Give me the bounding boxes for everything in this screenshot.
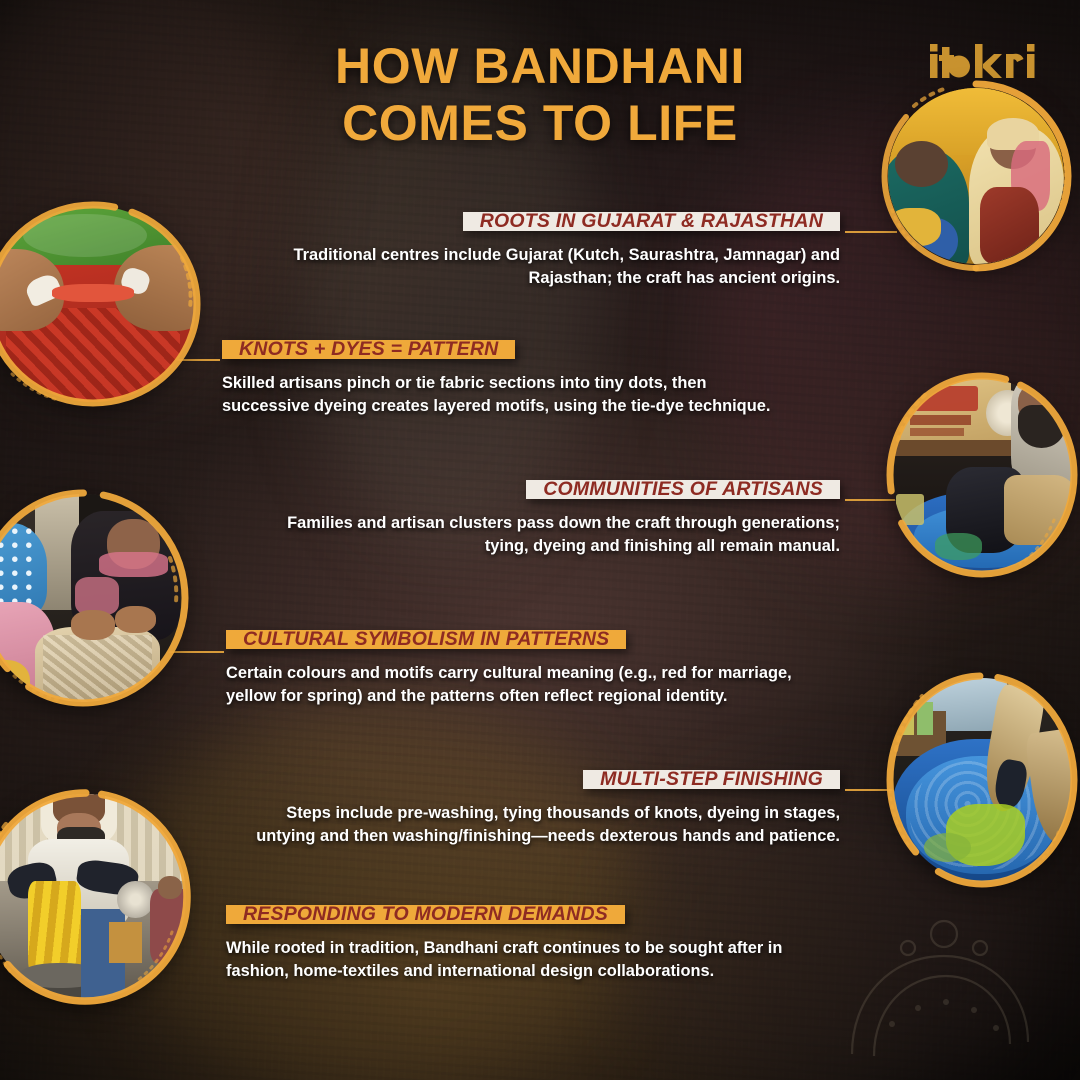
photo-women-tying-cream-fabric[interactable] bbox=[0, 486, 192, 710]
photo-artisan-lifting-yellow-cloth[interactable] bbox=[0, 786, 194, 1008]
section-heading-communities: COMMUNITIES OF ARTISANS bbox=[526, 480, 840, 499]
itokri-logo[interactable] bbox=[928, 40, 1046, 82]
section-body-finishing: Steps include pre-washing, tying thousan… bbox=[255, 802, 840, 847]
photo-frame-arc-women-tying-yellow-room bbox=[878, 78, 1074, 274]
bandhani-dot-motif bbox=[822, 904, 1062, 1074]
section-symbolism: CULTURAL SYMBOLISM IN PATTERNS Certain c… bbox=[226, 630, 796, 707]
section-body-knots-dyes: Skilled artisans pinch or tie fabric sec… bbox=[222, 372, 792, 417]
photo-frame-arc-hands-tying-red-fabric bbox=[0, 198, 204, 410]
section-body-symbolism: Certain colours and motifs carry cultura… bbox=[226, 662, 796, 707]
section-roots: ROOTS IN GUJARAT & RAJASTHAN Traditional… bbox=[255, 212, 840, 289]
infographic-canvas: HOW BANDHANI COMES TO LIFE bbox=[0, 0, 1080, 1080]
section-heading-roots: ROOTS IN GUJARAT & RAJASTHAN bbox=[463, 212, 840, 231]
photo-frame-arc-artisan-lifting-yellow-cloth bbox=[0, 786, 194, 1008]
photo-women-tying-yellow-room[interactable] bbox=[878, 78, 1074, 274]
section-body-communities: Families and artisan clusters pass down … bbox=[250, 512, 840, 557]
photo-frame-arc-women-tying-cream-fabric bbox=[0, 486, 192, 710]
section-modern-demands: RESPONDING TO MODERN DEMANDS While roote… bbox=[226, 905, 806, 982]
section-finishing: MULTI-STEP FINISHING Steps include pre-w… bbox=[255, 770, 840, 847]
photo-dyer-blue-vat-gloves[interactable] bbox=[884, 370, 1080, 580]
photo-hands-tying-red-fabric[interactable] bbox=[0, 198, 204, 410]
section-heading-symbolism: CULTURAL SYMBOLISM IN PATTERNS bbox=[226, 630, 626, 649]
section-body-roots: Traditional centres include Gujarat (Kut… bbox=[255, 244, 840, 289]
photo-frame-arc-dyer-blue-vat-gloves bbox=[884, 370, 1080, 580]
photo-frame-arc-blue-dye-vat-bundles bbox=[884, 670, 1080, 890]
section-heading-knots-dyes: KNOTS + DYES = PATTERN bbox=[222, 340, 515, 359]
section-knots-dyes: KNOTS + DYES = PATTERN Skilled artisans … bbox=[222, 340, 792, 417]
section-heading-finishing: MULTI-STEP FINISHING bbox=[583, 770, 840, 789]
section-heading-modern-demands: RESPONDING TO MODERN DEMANDS bbox=[226, 905, 625, 924]
section-communities: COMMUNITIES OF ARTISANS Families and art… bbox=[250, 480, 840, 557]
photo-blue-dye-vat-bundles[interactable] bbox=[884, 670, 1080, 890]
section-body-modern-demands: While rooted in tradition, Bandhani craf… bbox=[226, 937, 806, 982]
itokri-logo-wordmark bbox=[928, 40, 1046, 82]
